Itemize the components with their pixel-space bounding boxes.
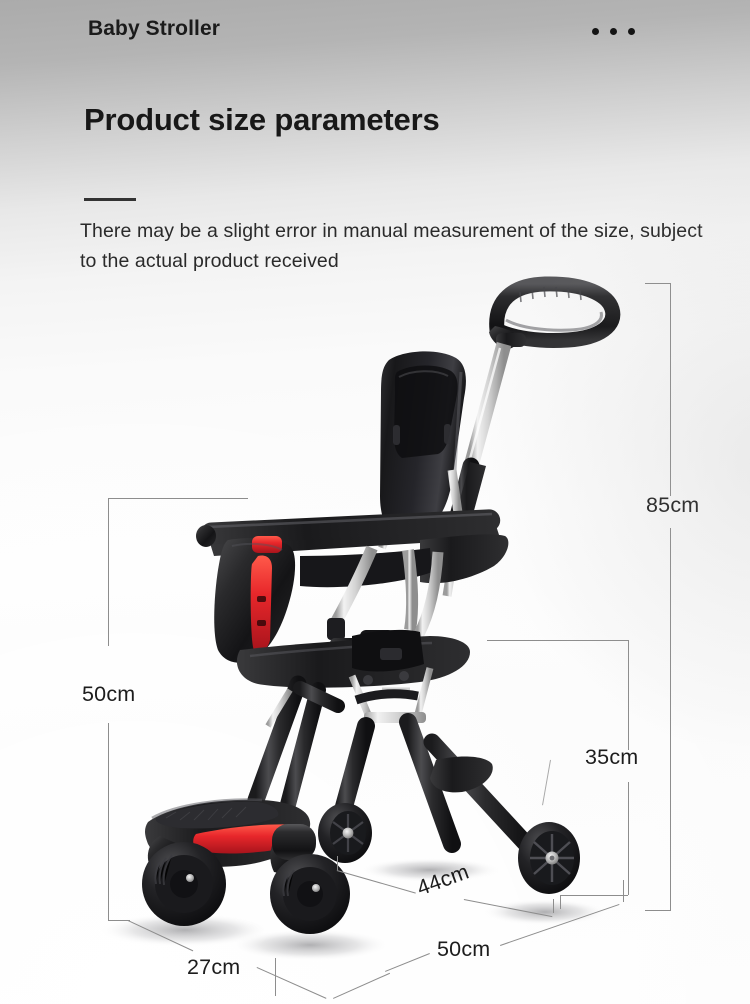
product-size-page: Baby Stroller Product size parameters Th… [0, 0, 750, 1004]
dim-tick-top [645, 283, 671, 284]
dim-line-upper [670, 283, 671, 496]
dim-tick-mid [275, 958, 276, 996]
dim-tick-drop [560, 895, 561, 909]
side-pod [214, 536, 295, 663]
dim-tick-bottom [560, 895, 628, 896]
dim-tick-bottom [645, 910, 671, 911]
dimension-label-85cm: 85cm [646, 493, 699, 518]
dimension-label-27cm: 27cm [187, 955, 240, 980]
stroller-illustration [0, 0, 750, 1004]
dimension-label-35cm: 35cm [585, 745, 638, 770]
dim-tick-top [108, 498, 248, 499]
dim-tick-top [487, 640, 628, 641]
dim-tick-right [623, 880, 624, 902]
push-handle [489, 284, 613, 350]
dim-line-upper [108, 498, 109, 646]
dimension-label-50cm-height: 50cm [82, 682, 135, 707]
dimension-label-50cm-length: 50cm [437, 937, 490, 962]
dim-line-lower [628, 782, 629, 895]
dim-line-upper [628, 640, 629, 750]
dim-tick-rear [553, 899, 554, 913]
dim-line-lower [670, 528, 671, 910]
dim-tick-front [337, 856, 338, 870]
dim-line-lower [108, 723, 109, 920]
